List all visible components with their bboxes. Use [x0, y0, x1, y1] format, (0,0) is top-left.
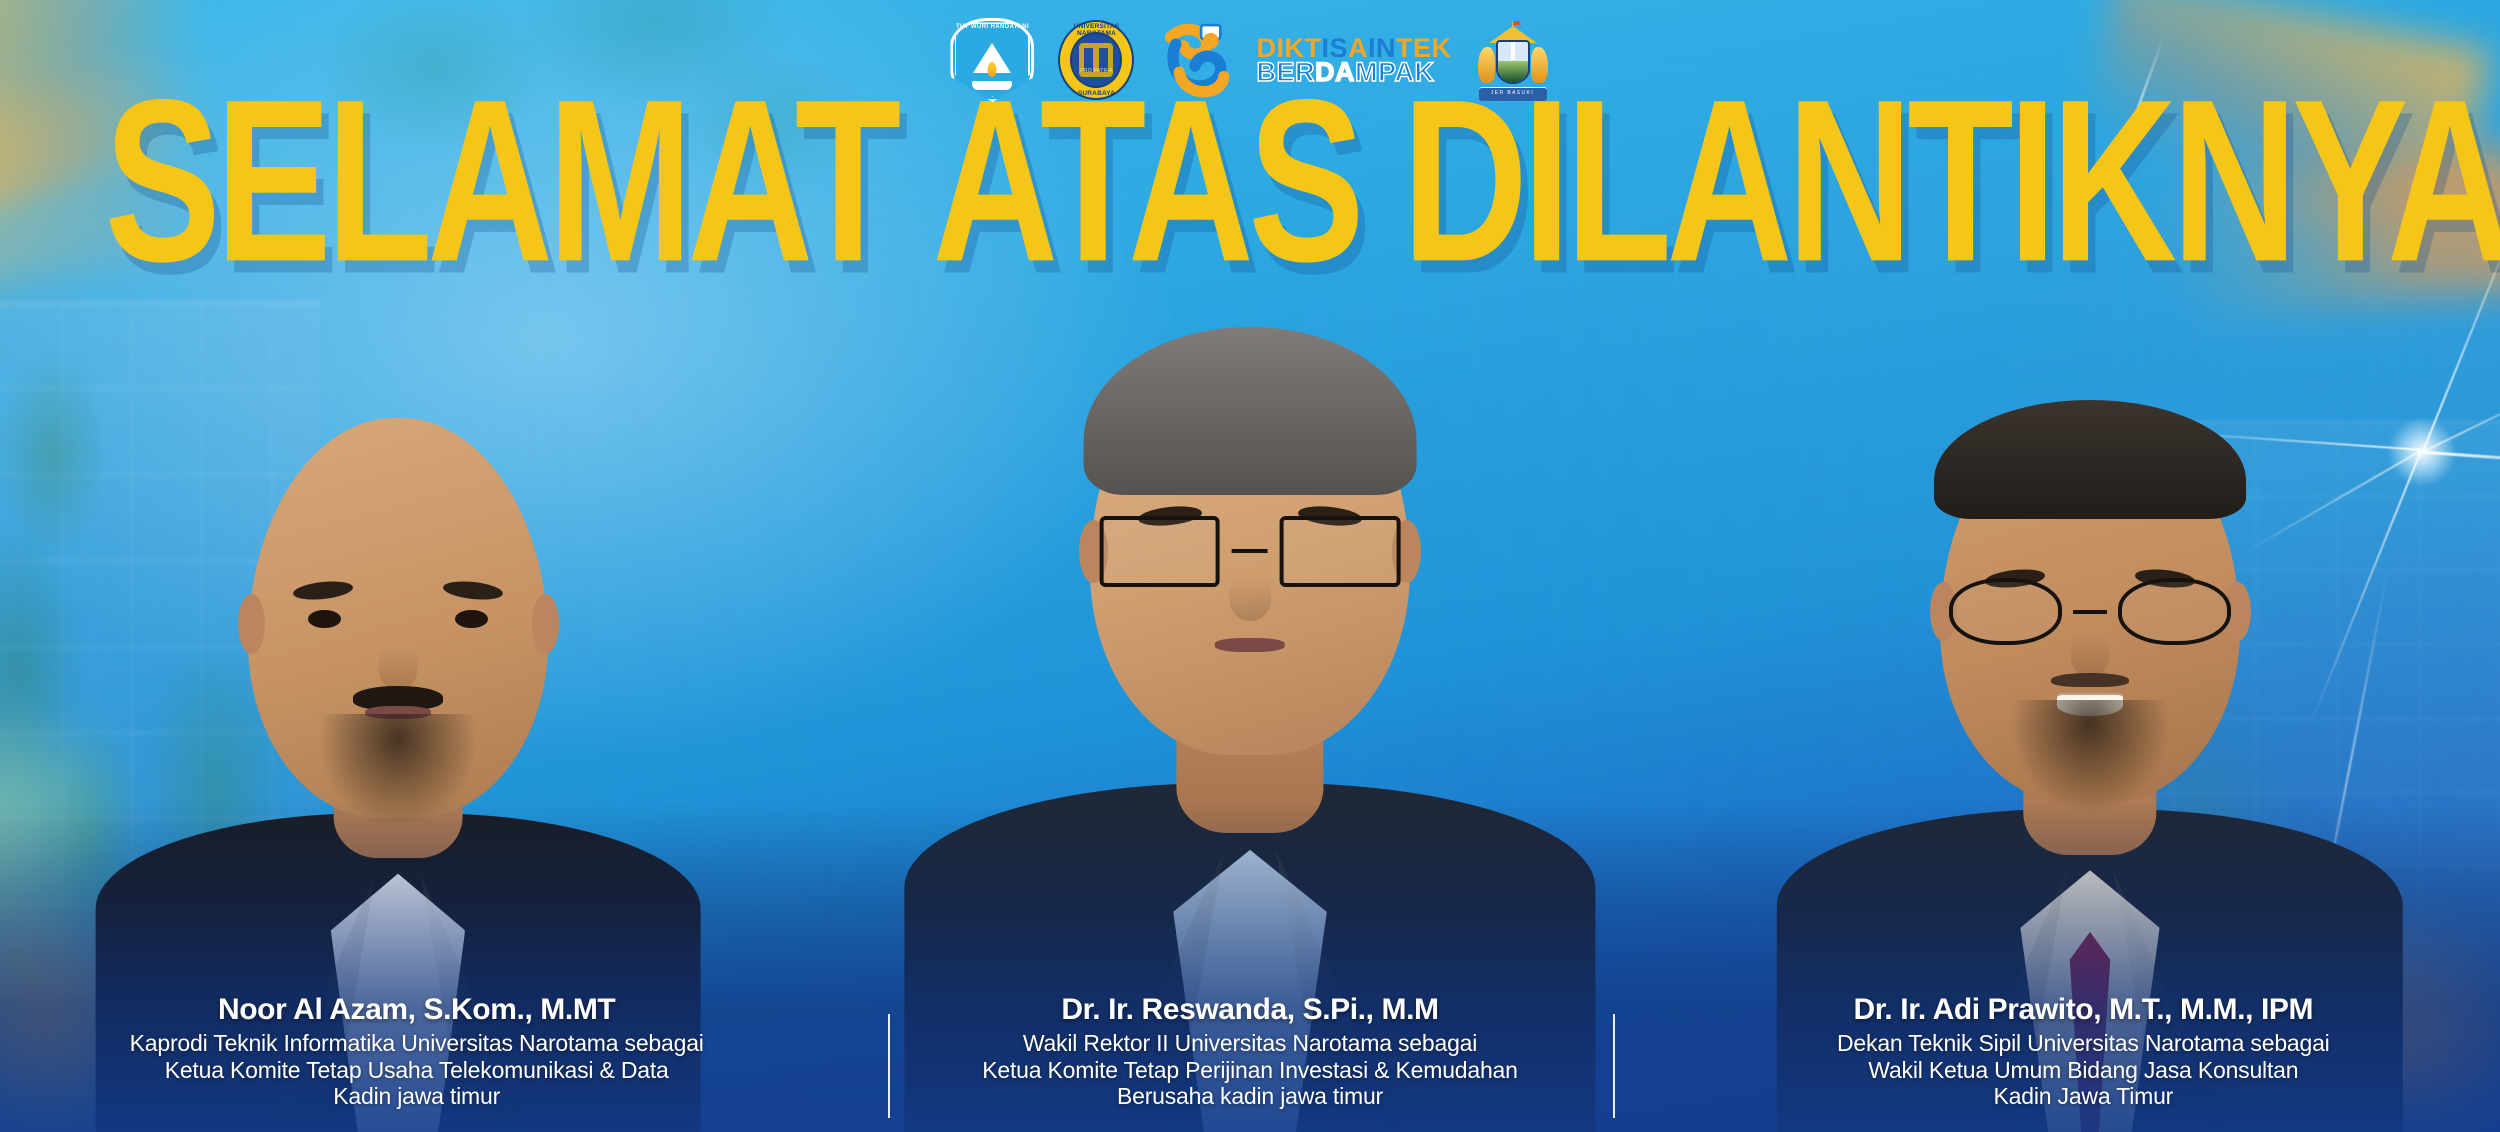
person-center-role-line-3: Berusaha kadin jawa timur: [859, 1083, 1640, 1110]
hair-center: [1084, 327, 1417, 495]
caption-person-right: Dr. Ir. Adi Prawito, M.T., M.M., IPM Dek…: [1667, 993, 2500, 1110]
jawa-timur-emblem-logo: JER BASUKI: [1476, 18, 1550, 102]
head-left: [248, 418, 548, 818]
caption-divider-2: [1613, 1014, 1615, 1118]
jatim-motto-banner: JER BASUKI: [1479, 87, 1547, 101]
person-left-name: Noor Al Azam, S.Kom., M.MT: [26, 993, 807, 1027]
lion-right-icon: [1531, 47, 1548, 83]
person-left-role-line-1: Kaprodi Teknik Informatika Universitas N…: [26, 1030, 807, 1057]
narotama-motto-text: PRO PATRIA: [1058, 68, 1134, 74]
caption-person-center: Dr. Ir. Reswanda, S.Pi., M.M Wakil Rekto…: [833, 993, 1666, 1110]
logo-bar: TUT WURI HANDAYANI UNIVERSITAS NAROTAMA …: [0, 18, 2500, 102]
tut-wuri-motto-text: TUT WURI HANDAYANI: [950, 24, 1034, 30]
person-right-role-line-3: Kadin Jawa Timur: [1693, 1083, 2474, 1110]
congratulations-banner: SELAMAT ATAS DILANTIKNYA TUT WURI HANDAY…: [0, 0, 2500, 1132]
hair-right: [1934, 400, 2246, 519]
jatim-motto-text: JER BASUKI: [1479, 90, 1547, 96]
tugu-pahlawan-icon: [1511, 42, 1515, 60]
person-center-role-line-1: Wakil Rektor II Universitas Narotama seb…: [859, 1030, 1640, 1057]
berdampak-wordmark: BERDAMPAK: [1256, 60, 1451, 84]
captions-row: Noor Al Azam, S.Kom., M.MT Kaprodi Tekni…: [0, 993, 2500, 1110]
tut-wuri-handayani-logo: TUT WURI HANDAYANI: [950, 18, 1034, 102]
diktisaintek-berdampak-logo: DIKTISAINTEK BERDAMPAK: [1158, 18, 1451, 102]
person-left-role-line-3: Kadin jawa timur: [26, 1083, 807, 1110]
open-book-icon: [972, 81, 1012, 90]
person-right-name: Dr. Ir. Adi Prawito, M.T., M.M., IPM: [1693, 993, 2474, 1027]
universitas-narotama-logo: UNIVERSITAS NAROTAMA SURABAYA PRO PATRIA: [1058, 20, 1134, 100]
head-right: [1940, 408, 2240, 803]
person-right-role-line-1: Dekan Teknik Sipil Universitas Narotama …: [1693, 1030, 2474, 1057]
diktisaintek-figure-icon: [1158, 18, 1246, 102]
person-center-name: Dr. Ir. Reswanda, S.Pi., M.M: [859, 993, 1640, 1027]
head-center: [1090, 335, 1410, 755]
lion-left-icon: [1478, 47, 1495, 83]
caption-divider-1: [888, 1014, 890, 1118]
flame-icon: [988, 62, 997, 77]
person-right-role-line-2: Wakil Ketua Umum Bidang Jasa Konsultan: [1693, 1057, 2474, 1084]
person-center-role-line-2: Ketua Komite Tetap Perijinan Investasi &…: [859, 1057, 1640, 1084]
narotama-bottom-text: SURABAYA: [1058, 90, 1134, 97]
person-left-role-line-2: Ketua Komite Tetap Usaha Telekomunikasi …: [26, 1057, 807, 1084]
caption-person-left: Noor Al Azam, S.Kom., M.MT Kaprodi Tekni…: [0, 993, 833, 1110]
